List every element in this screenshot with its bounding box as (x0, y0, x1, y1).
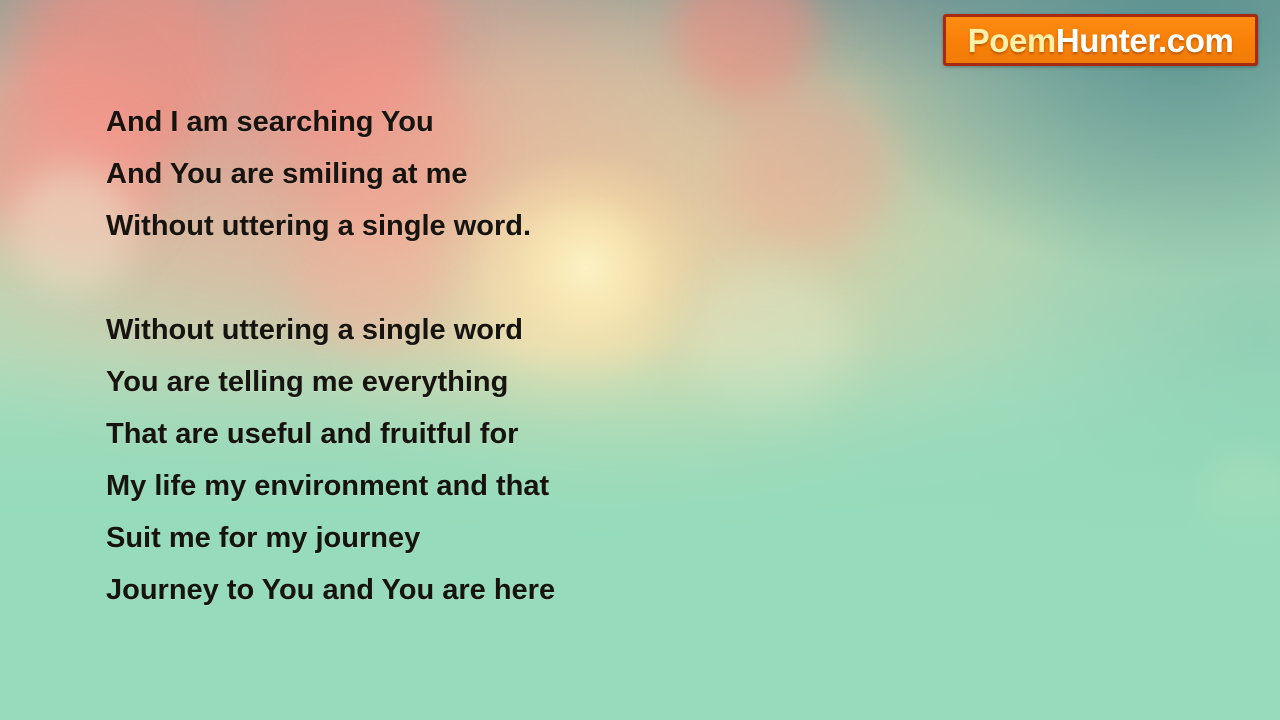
logo-word-hunter: Hunter.com (1056, 22, 1234, 59)
logo-word-poem: Poem (968, 22, 1056, 59)
poem-text-block: And I am searching YouAnd You are smilin… (106, 96, 806, 616)
poem-slide: And I am searching YouAnd You are smilin… (0, 0, 1280, 720)
poem-line: Journey to You and You are here (106, 564, 806, 616)
poem-line: That are useful and fruitful for (106, 408, 806, 460)
poemhunter-logo-badge[interactable]: PoemHunter.com (943, 14, 1258, 66)
poem-line: And You are smiling at me (106, 148, 806, 200)
poem-line-blank (106, 252, 806, 304)
poem-line: My life my environment and that (106, 460, 806, 512)
poem-line: And I am searching You (106, 96, 806, 148)
poem-line: Suit me for my journey (106, 512, 806, 564)
poem-line: Without uttering a single word (106, 304, 806, 356)
poem-line: Without uttering a single word. (106, 200, 806, 252)
pink-disc-upper-mid (672, 0, 818, 104)
pale-disc-right-edge (1196, 458, 1280, 566)
poemhunter-logo-text: PoemHunter.com (968, 24, 1234, 57)
poem-line: You are telling me everything (106, 356, 806, 408)
